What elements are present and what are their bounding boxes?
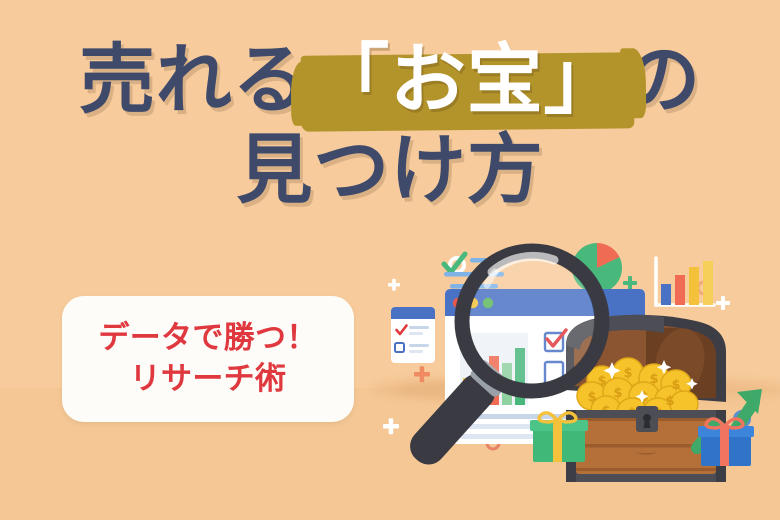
plus-icon [383,418,399,434]
plus-icon [623,276,637,290]
tagline-line-1: データで勝つ！ [98,318,317,359]
svg-text:$: $ [613,386,622,401]
plus-icon [414,366,430,382]
tagline-badge: データで勝つ！ リサーチ術 [62,296,354,422]
svg-text:$: $ [671,378,680,393]
gift-box-green [530,413,588,462]
tagline-line-2: リサーチ術 [130,359,287,400]
svg-text:$: $ [597,374,606,389]
svg-text:$: $ [649,372,658,387]
svg-text:$: $ [665,394,674,409]
plus-icon [716,296,730,310]
poster-canvas: $ $ $ $ $ $ $ $ $ $ $ [0,0,780,520]
plus-icon [388,279,400,291]
bar-chart-small [656,258,714,305]
svg-text:$: $ [587,390,596,405]
checklist-card [391,307,435,363]
svg-text:$: $ [623,366,632,381]
illustration-group: $ $ $ $ $ $ $ $ $ $ $ [0,0,780,520]
